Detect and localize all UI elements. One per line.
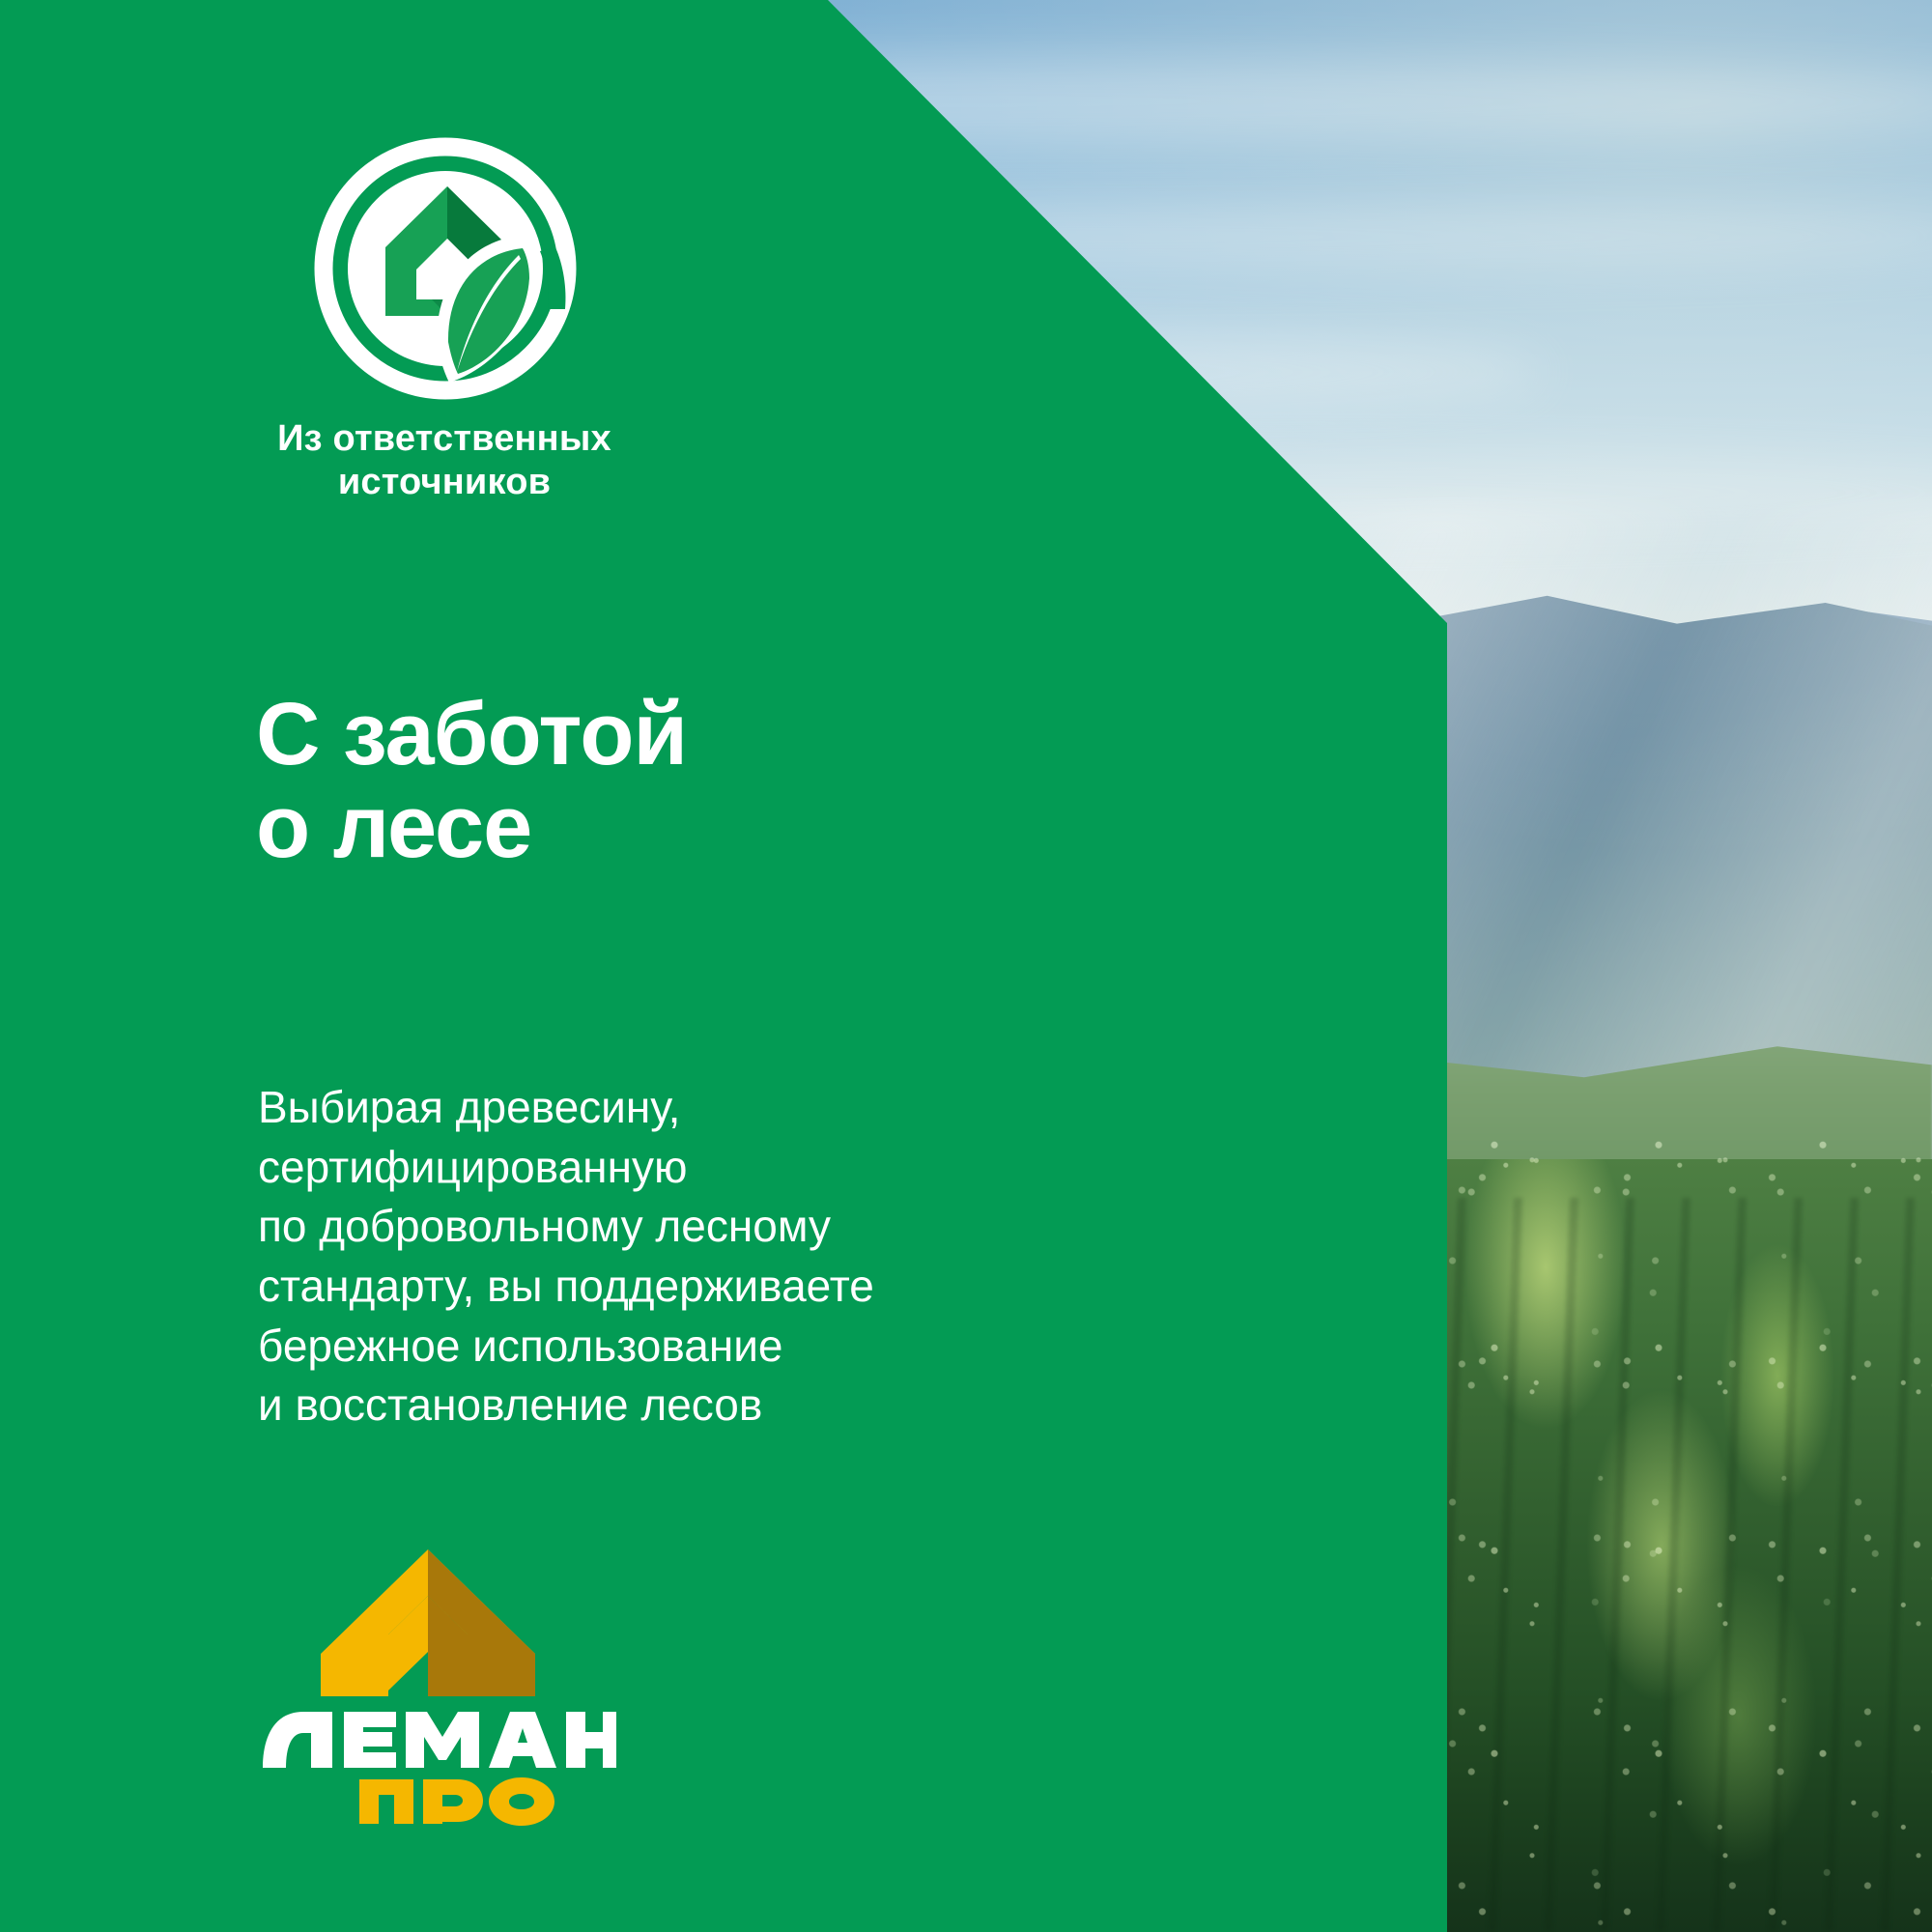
responsible-sources-house-leaf-emblem — [312, 135, 579, 402]
emblem-caption: Из ответственных источников — [135, 417, 753, 504]
body-copy: Выбирая древесину, сертифицированную по … — [258, 1078, 1050, 1435]
lemana-pro-house-roof-icon — [317, 1546, 539, 1700]
lemana-pro-logo: ЛЕМАНА ПРО — [259, 1546, 616, 1826]
lemana-wordmark-primary-text: ЛЕМАНА — [259, 1826, 260, 1827]
content-layer: Из ответственных источников С заботой о … — [0, 0, 1932, 1932]
lemana-wordmark-secondary-text: ПРО — [259, 1826, 260, 1827]
poster-canvas: Панорама лесистых гор с утренней дымкой … — [0, 0, 1932, 1932]
lemana-pro-wordmark — [259, 1708, 616, 1826]
page-title: С заботой о лесе — [256, 688, 687, 874]
